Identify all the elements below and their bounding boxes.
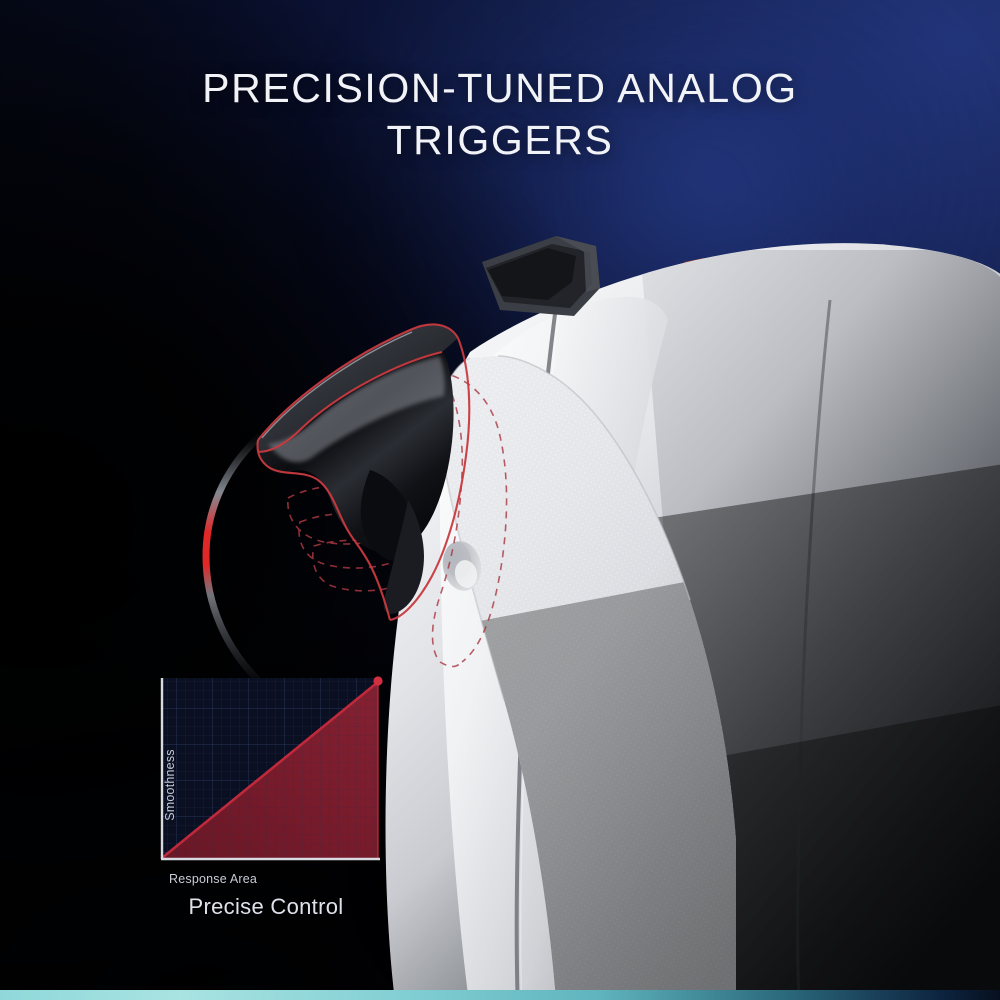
- product-feature-banner: PRECISION-TUNED ANALOG TRIGGERS: [0, 0, 1000, 1000]
- bottom-accent-strip: [0, 990, 1000, 1000]
- motion-arc-indicator: [206, 438, 262, 684]
- chart-endpoint-marker: [373, 676, 382, 685]
- bumper-button: [482, 236, 600, 316]
- chart-x-axis-label: Response Area: [169, 872, 257, 886]
- response-chart-svg: [140, 672, 390, 872]
- chart-caption: Precise Control: [156, 894, 376, 920]
- controller-body: [380, 243, 1000, 1000]
- chart-y-axis-label: Smoothness: [163, 730, 177, 840]
- response-chart: Smoothness Response Area Precise Control: [140, 672, 390, 927]
